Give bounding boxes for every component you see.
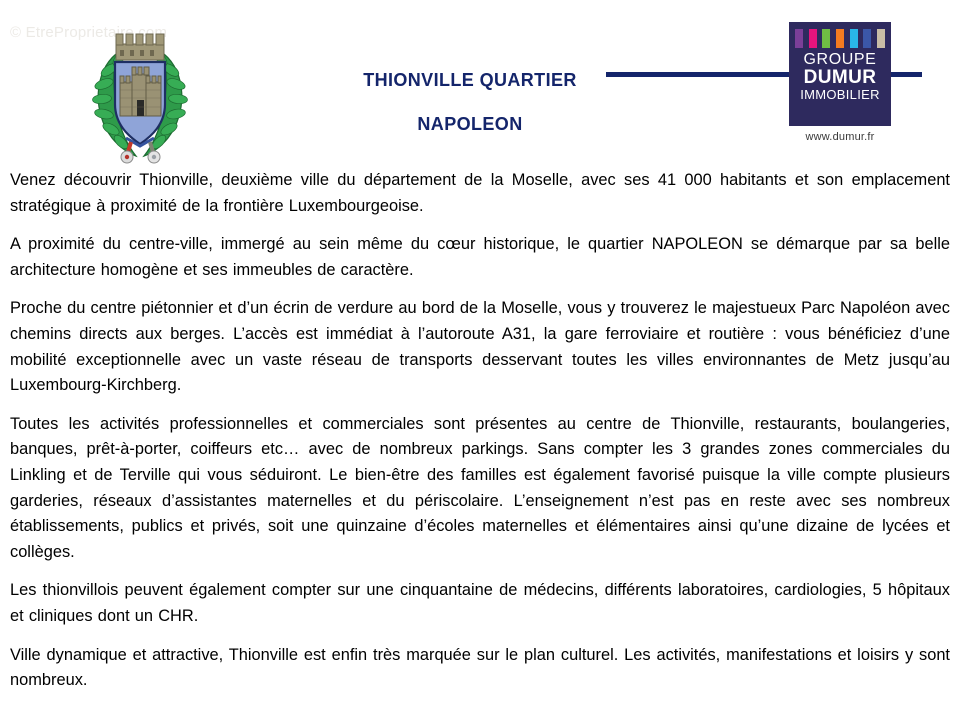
paragraph: Ville dynamique et attractive, Thionvill… — [10, 643, 950, 694]
logo-bar-green — [822, 29, 830, 48]
header-rule-right — [890, 72, 922, 77]
thionville-coat-of-arms-icon — [86, 26, 194, 164]
logo-bar-purple — [795, 29, 803, 48]
page-header: © EtreProprietaire.com — [0, 0, 960, 165]
property-description-page: © EtreProprietaire.com — [0, 0, 960, 720]
logo-bar-cyan — [850, 29, 858, 48]
paragraph: Venez découvrir Thionville, deuxième vil… — [10, 168, 950, 219]
header-rule-left — [606, 72, 790, 77]
logo-word-groupe: GROUPE — [795, 52, 885, 68]
logo-website-url[interactable]: www.dumur.fr — [789, 131, 891, 143]
logo-bar-blue — [863, 29, 871, 48]
paragraph: Les thionvillois peuvent également compt… — [10, 578, 950, 629]
logo-box: GROUPE DUMUR IMMOBILIER — [789, 22, 891, 126]
paragraph: A proximité du centre-ville, immergé au … — [10, 232, 950, 283]
description-body: Venez découvrir Thionville, deuxième vil… — [10, 168, 950, 694]
page-title: THIONVILLE QUARTIER NAPOLEON — [330, 58, 610, 146]
paragraph: Toutes les activités professionnelles et… — [10, 412, 950, 566]
logo-bar-orange — [836, 29, 844, 48]
paragraph: Proche du centre piétonnier et d’un écri… — [10, 296, 950, 398]
logo-word-immobilier: IMMOBILIER — [795, 88, 885, 101]
logo-bar-tan — [877, 29, 885, 48]
title-line-2: NAPOLEON — [330, 102, 610, 146]
logo-color-bars — [795, 29, 885, 48]
groupe-dumur-logo[interactable]: GROUPE DUMUR IMMOBILIER www.dumur.fr — [789, 22, 891, 148]
title-line-1: THIONVILLE QUARTIER — [330, 58, 610, 102]
logo-bar-magenta — [809, 29, 817, 48]
logo-word-dumur: DUMUR — [795, 68, 885, 87]
logo-wordmark: GROUPE DUMUR IMMOBILIER — [795, 52, 885, 101]
